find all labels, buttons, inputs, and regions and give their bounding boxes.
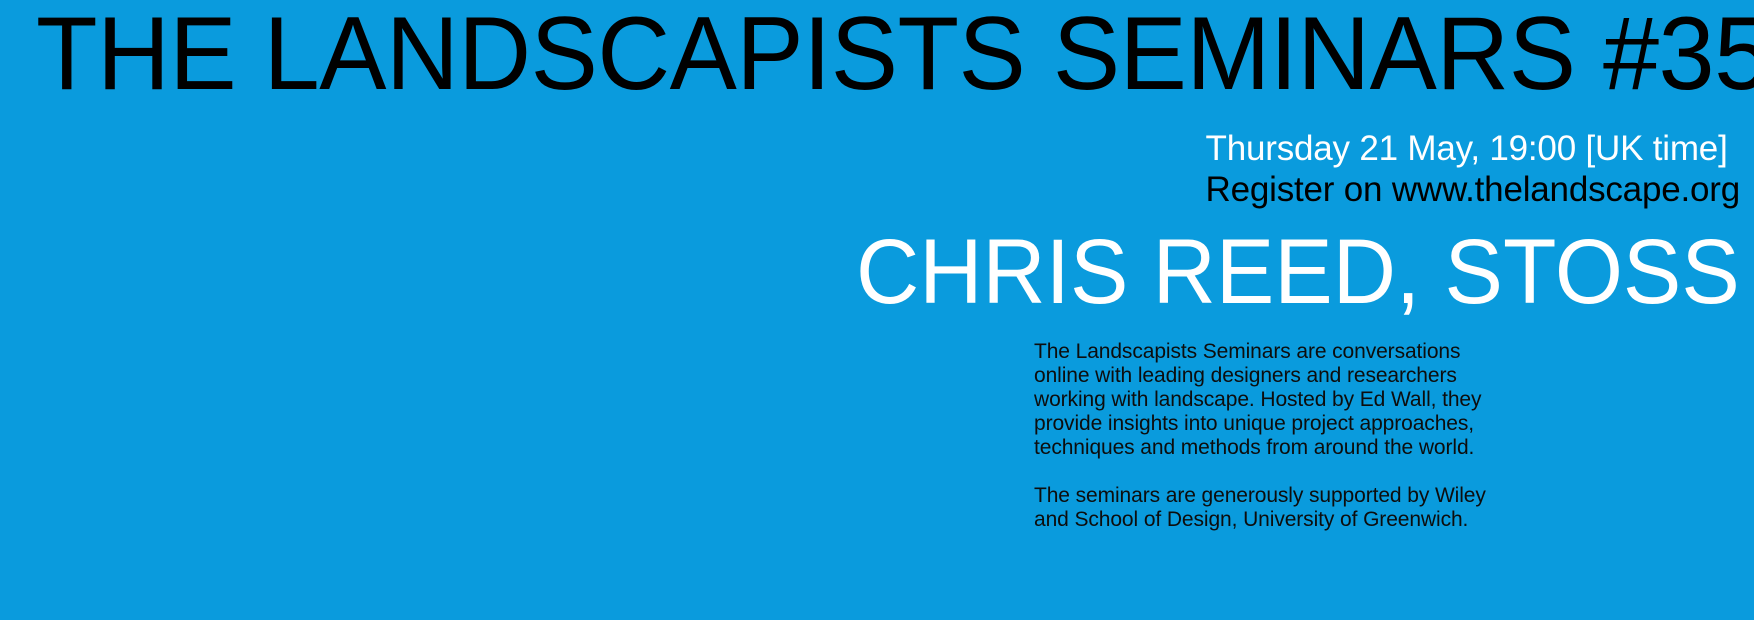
description-line: provide insights into unique project app… [1034,412,1554,436]
event-date-time: Thursday 21 May, 19:00 [UK time] [1206,128,1740,169]
description-line: The Landscapists Seminars are conversati… [1034,340,1554,364]
description-paragraph-1: The Landscapists Seminars are conversati… [1034,340,1554,460]
seminar-poster: THE LANDSCAPISTS SEMINARS #35 Thursday 2… [0,0,1754,620]
description-line: online with leading designers and resear… [1034,364,1554,388]
event-meta-block: Thursday 21 May, 19:00 [UK time] Registe… [1206,128,1740,210]
registration-link[interactable]: Register on www.thelandscape.org [1206,169,1740,210]
description-line: and School of Design, University of Gree… [1034,508,1554,532]
speaker-name: CHRIS REED, STOSS [856,222,1740,322]
description-line: techniques and methods from around the w… [1034,436,1554,460]
description-line: working with landscape. Hosted by Ed Wal… [1034,388,1554,412]
description-block: The Landscapists Seminars are conversati… [1034,340,1554,532]
description-line: The seminars are generously supported by… [1034,484,1554,508]
page-title: THE LANDSCAPISTS SEMINARS #35 [36,0,1684,114]
description-paragraph-2: The seminars are generously supported by… [1034,484,1554,532]
